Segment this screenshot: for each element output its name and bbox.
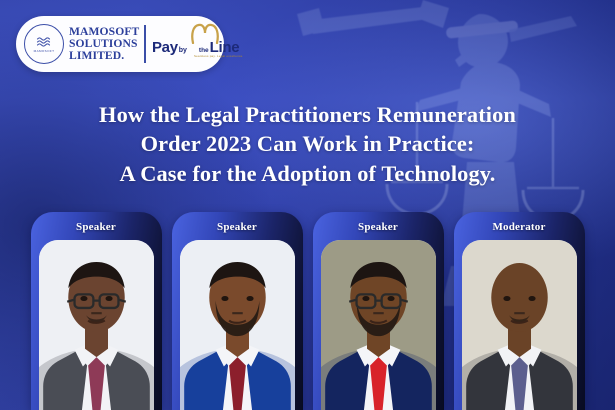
pbl-pay-text: Pay (152, 39, 178, 56)
speaker-role-label: Speaker (172, 212, 303, 233)
pbl-the-text: the (199, 47, 209, 54)
logo-divider (144, 25, 146, 63)
event-title: How the Legal Practitioners Remuneration… (0, 100, 615, 188)
speaker-role-label: Speaker (31, 212, 162, 233)
title-line-1: How the Legal Practitioners Remuneration (26, 100, 589, 129)
mamosoft-badge-icon: MAMOSOFT (24, 24, 64, 64)
speaker-role-label: Speaker (313, 212, 444, 233)
company-line-3: LIMITED. (69, 50, 139, 62)
speaker-card[interactable]: Speaker (313, 212, 444, 410)
badge-label: MAMOSOFT (34, 49, 55, 53)
speaker-card-row: SpeakerSpeakerSpeakerModerator (0, 212, 615, 410)
speaker-card[interactable]: Speaker (172, 212, 303, 410)
speaker-portrait (462, 240, 577, 410)
speaker-card[interactable]: Speaker (31, 212, 162, 410)
speaker-portrait (39, 240, 154, 410)
title-line-3: A Case for the Adoption of Technology. (26, 159, 589, 188)
speaker-role-label: Moderator (454, 212, 585, 233)
speaker-portrait (321, 240, 436, 410)
pbl-by-text: by (179, 47, 187, 54)
speaker-portrait (180, 240, 295, 410)
title-line-2: Order 2023 Can Work in Practice: (26, 129, 589, 158)
logo-lockup: MAMOSOFT MAMOSOFT SOLUTIONS LIMITED. Pay… (16, 16, 224, 72)
speaker-card[interactable]: Moderator (454, 212, 585, 410)
company-name: MAMOSOFT SOLUTIONS LIMITED. (69, 26, 139, 61)
event-flyer: MAMOSOFT MAMOSOFT SOLUTIONS LIMITED. Pay… (0, 0, 615, 410)
pbl-tagline: Seamless pay. Legal excellence. (194, 54, 244, 58)
pay-by-the-line-logo: Pay by the Line Seamless pay. Legal exce… (152, 21, 248, 67)
